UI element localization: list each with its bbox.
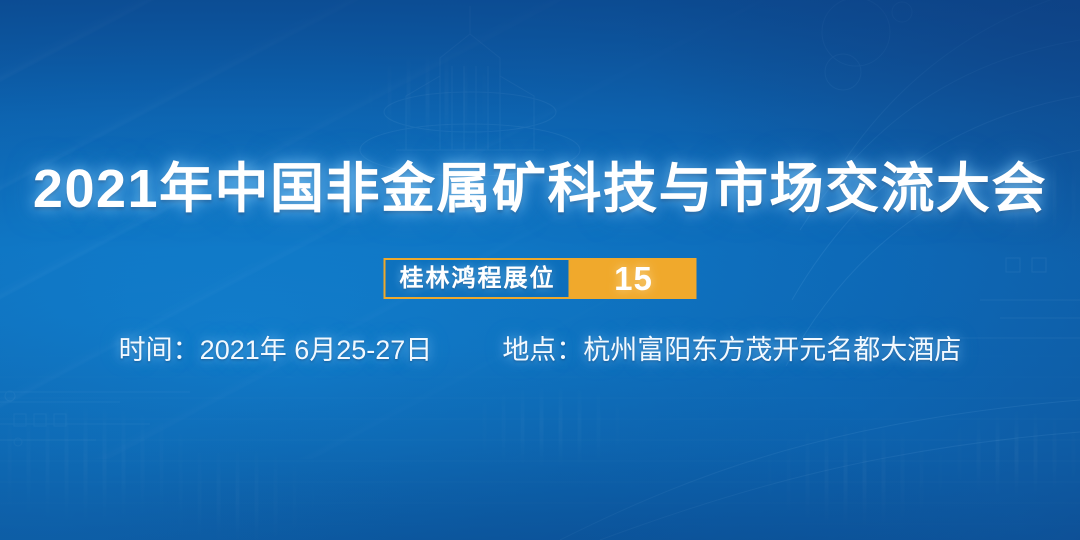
event-details: 时间：2021年 6月25-27日 地点：杭州富阳东方茂开元名都大酒店 [0,330,1080,370]
banner-content: 2021年中国非金属矿科技与市场交流大会 桂林鸿程展位 15 时间：2021年 … [0,0,1080,540]
booth-number-label: 15 [571,258,697,299]
conference-title: 2021年中国非金属矿科技与市场交流大会 [0,158,1080,220]
event-venue: 地点：杭州富阳东方茂开元名都大酒店 [502,330,961,370]
exhibitor-name-label: 桂林鸿程展位 [384,258,571,299]
event-date: 时间：2021年 6月25-27日 [119,330,433,370]
exhibitor-booth-badge: 桂林鸿程展位 15 [384,258,697,299]
conference-banner: 2021年中国非金属矿科技与市场交流大会 桂林鸿程展位 15 时间：2021年 … [0,0,1080,540]
